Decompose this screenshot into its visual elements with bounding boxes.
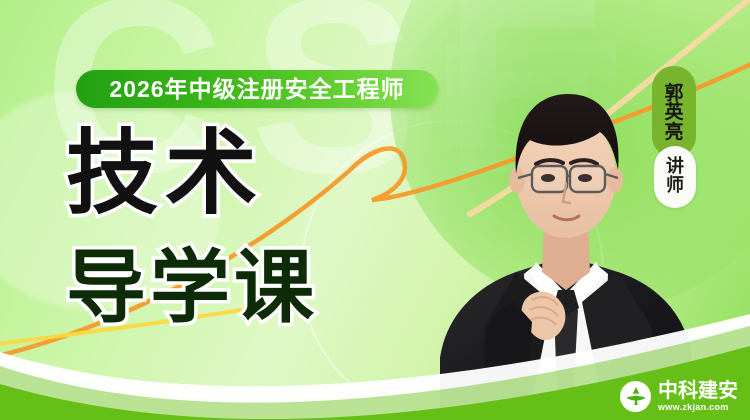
instructor-role-char-2: 师 bbox=[666, 177, 684, 196]
instructor-role-badge: 讲 师 bbox=[654, 146, 696, 208]
brand-text-block: 中科建安 www.zkjan.com bbox=[658, 380, 738, 412]
course-poster: CSE bbox=[0, 0, 750, 420]
instructor-name-char-2: 英 bbox=[664, 103, 683, 123]
course-banner-label: 2026年中级注册安全工程师 bbox=[109, 78, 404, 101]
headline-line-1: 技术 bbox=[66, 128, 264, 220]
brand-name: 中科建安 bbox=[658, 380, 738, 400]
brand-url: www.zkjan.com bbox=[658, 403, 738, 412]
instructor-name-badge: 郭 英 亮 bbox=[652, 66, 696, 158]
headline-line-2: 导学课 bbox=[66, 248, 318, 328]
brand-emblem-icon bbox=[620, 381, 651, 412]
brand-logo: 中科建安 www.zkjan.com bbox=[620, 380, 738, 412]
star-swoosh-glyph bbox=[624, 384, 648, 408]
instructor-name-char-3: 亮 bbox=[664, 123, 683, 143]
course-banner-pill: 2026年中级注册安全工程师 bbox=[76, 70, 438, 108]
